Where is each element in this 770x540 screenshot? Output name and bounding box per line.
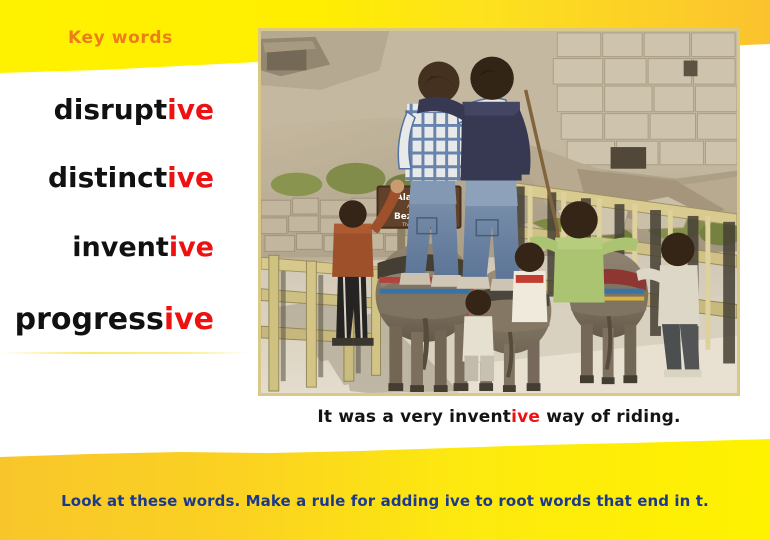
keyword-suffix: ive bbox=[164, 302, 214, 337]
bottom-yellow-band bbox=[0, 439, 770, 540]
keyword-item: disruptive bbox=[0, 96, 214, 124]
keyword-root: disrupt bbox=[54, 93, 167, 126]
keyword-root: invent bbox=[72, 232, 169, 263]
keyword-suffix: ive bbox=[169, 232, 214, 263]
photo-frame: Ala Kilise Ala Church Bezirhane The Oil … bbox=[258, 28, 740, 396]
caption-before: It was a very invent bbox=[317, 407, 511, 427]
slide-canvas: Key words disruptive distinctive inventi… bbox=[0, 0, 770, 540]
caption-after: way of riding. bbox=[540, 407, 681, 427]
instruction-text: Look at these words. Make a rule for add… bbox=[0, 492, 770, 510]
keyword-root: distinct bbox=[48, 161, 167, 194]
photo-donkey-riding: Ala Kilise Ala Church Bezirhane The Oil … bbox=[261, 31, 737, 393]
decorative-hairline bbox=[0, 352, 250, 354]
keyword-suffix: ive bbox=[167, 161, 214, 194]
caption-suffix: ive bbox=[511, 407, 540, 427]
keyword-item: inventive bbox=[0, 234, 214, 261]
keyword-list: disruptive distinctive inventive progres… bbox=[0, 96, 214, 335]
keyword-item: distinctive bbox=[0, 164, 214, 192]
keyword-root: progress bbox=[15, 302, 164, 337]
keyword-item: progressive bbox=[0, 305, 214, 335]
keyword-suffix: ive bbox=[167, 93, 214, 126]
photo-caption: It was a very inventive way of riding. bbox=[258, 407, 740, 427]
page-title: Key words bbox=[68, 28, 173, 48]
